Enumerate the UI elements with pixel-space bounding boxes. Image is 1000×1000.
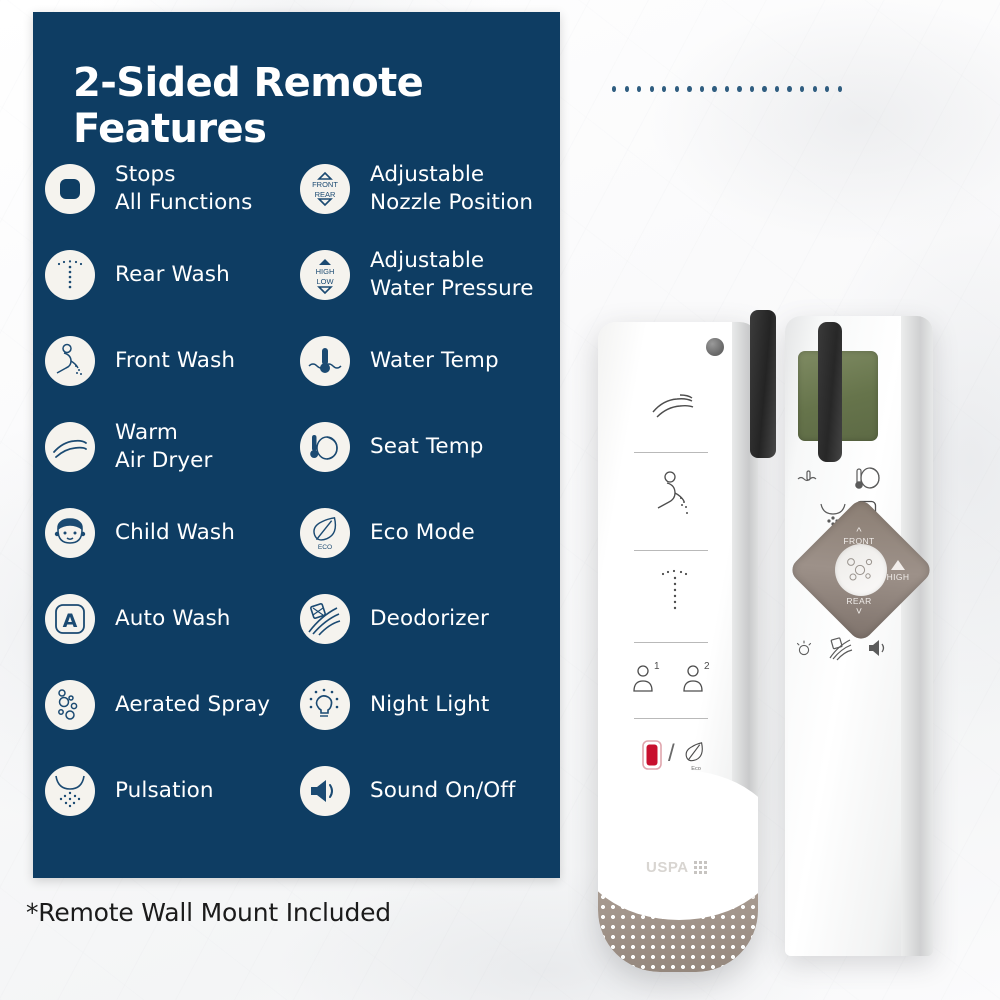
svg-text:REAR: REAR	[315, 190, 336, 199]
feature-item: Deodorizer	[300, 576, 545, 662]
user-2-label: 2	[704, 661, 710, 672]
stop-square-icon	[45, 164, 95, 214]
feature-label: Aerated Spray	[115, 691, 270, 719]
water-temp-icon[interactable]	[797, 470, 823, 493]
user-2-button[interactable]: 2	[680, 660, 714, 699]
feature-label: Eco Mode	[370, 519, 475, 547]
sound-speaker-icon	[300, 766, 350, 816]
feature-label: Water Temp	[370, 347, 499, 375]
seat-temp-icon	[300, 422, 350, 472]
remote-back-grip-strip	[818, 322, 842, 462]
feature-label: Rear Wash	[115, 261, 230, 289]
rear-wash-icon[interactable]	[656, 568, 694, 621]
aerated-spray-icon	[45, 680, 95, 730]
feature-item: FRONTREARAdjustable Nozzle Position	[300, 146, 545, 232]
feature-item: Night Light	[300, 662, 545, 748]
svg-text:FRONT: FRONT	[312, 180, 338, 189]
deodorizer-icon[interactable]	[827, 636, 855, 667]
seat-temp-icon[interactable]	[853, 464, 883, 497]
feature-item: Aerated Spray	[45, 662, 300, 748]
dpad-high-label: HIGH	[878, 572, 918, 582]
water-pressure-icon: HIGHLOW	[300, 250, 350, 300]
sound-speaker-icon[interactable]	[867, 638, 891, 663]
feature-label: Pulsation	[115, 777, 214, 805]
svg-text:ECO: ECO	[318, 544, 332, 551]
remote-devices-group: A ^ FRONT REAR ˅ HIGH	[560, 300, 1000, 1000]
rear-wash-icon	[45, 250, 95, 300]
divider-slash: /	[668, 740, 675, 768]
feature-item: Front Wash	[45, 318, 300, 404]
remote-front-grip-strip	[750, 310, 776, 458]
feature-label: Seat Temp	[370, 433, 484, 461]
brand-logo-text: USPA	[646, 859, 689, 876]
feature-item: Warm Air Dryer	[45, 404, 300, 490]
footnote-text: *Remote Wall Mount Included	[26, 898, 391, 927]
divider-line	[634, 452, 708, 453]
dpad-rear-chevron: ˅	[839, 606, 879, 618]
feature-item: Sound On/Off	[300, 748, 545, 834]
feature-label: Night Light	[370, 691, 489, 719]
feature-label: Adjustable Nozzle Position	[370, 161, 533, 218]
dpad-front-label: FRONT	[839, 536, 879, 546]
feature-item: Rear Wash	[45, 232, 300, 318]
feature-label: Deodorizer	[370, 605, 489, 633]
svg-text:LOW: LOW	[316, 277, 334, 286]
feature-item: Pulsation	[45, 748, 300, 834]
dpad-rear-label: REAR	[839, 596, 879, 606]
water-temp-icon	[300, 336, 350, 386]
pulsation-icon	[45, 766, 95, 816]
feature-item: Seat Temp	[300, 404, 545, 490]
remote-front-body: 1 2 / Eco USPA	[598, 322, 758, 972]
decorative-swoop	[598, 770, 758, 920]
warm-air-dryer-icon	[45, 422, 95, 472]
feature-label: Adjustable Water Pressure	[370, 247, 534, 304]
feature-label: Sound On/Off	[370, 777, 516, 805]
feature-label: Front Wash	[115, 347, 235, 375]
auto-wash-icon: A	[45, 594, 95, 644]
user-1-button[interactable]: 1	[630, 660, 664, 699]
eco-leaf-icon: ECO	[300, 508, 350, 558]
title-dot-decoration	[612, 86, 842, 94]
user-1-label: 1	[654, 661, 660, 672]
brand-logo: USPA	[646, 859, 707, 876]
feature-item: Stops All Functions	[45, 146, 300, 232]
dpad-high-triangle	[891, 560, 905, 570]
divider-line	[634, 642, 708, 643]
feature-item: Water Temp	[300, 318, 545, 404]
brand-logo-dots	[694, 861, 707, 874]
feature-label: Stops All Functions	[115, 161, 252, 218]
night-light-icon	[300, 680, 350, 730]
feature-item: ECOEco Mode	[300, 490, 545, 576]
deodorizer-icon	[300, 594, 350, 644]
feature-grid: Stops All FunctionsFRONTREARAdjustable N…	[45, 146, 545, 834]
feature-label: Warm Air Dryer	[115, 419, 212, 476]
page-title: 2-Sided Remote Features	[73, 60, 503, 152]
stop-button[interactable]	[642, 740, 662, 775]
dpad-center-button[interactable]	[835, 544, 887, 596]
front-wash-icon[interactable]	[654, 470, 694, 527]
ir-led-icon	[706, 338, 724, 356]
feature-item: AAuto Wash	[45, 576, 300, 662]
feature-label: Child Wash	[115, 519, 235, 547]
feature-item: HIGHLOWAdjustable Water Pressure	[300, 232, 545, 318]
warm-air-dryer-icon[interactable]	[650, 390, 696, 427]
remote-back-control-panel: A ^ FRONT REAR ˅ HIGH	[795, 456, 923, 816]
feature-item: Child Wash	[45, 490, 300, 576]
svg-text:A: A	[63, 610, 78, 632]
feature-label: Auto Wash	[115, 605, 231, 633]
svg-text:HIGH: HIGH	[316, 267, 335, 276]
remote-back-body: A ^ FRONT REAR ˅ HIGH	[785, 316, 933, 956]
night-light-icon[interactable]	[793, 638, 815, 665]
front-wash-icon	[45, 336, 95, 386]
divider-line	[634, 550, 708, 551]
child-wash-icon	[45, 508, 95, 558]
divider-line	[634, 718, 708, 719]
nozzle-position-icon: FRONTREAR	[300, 164, 350, 214]
